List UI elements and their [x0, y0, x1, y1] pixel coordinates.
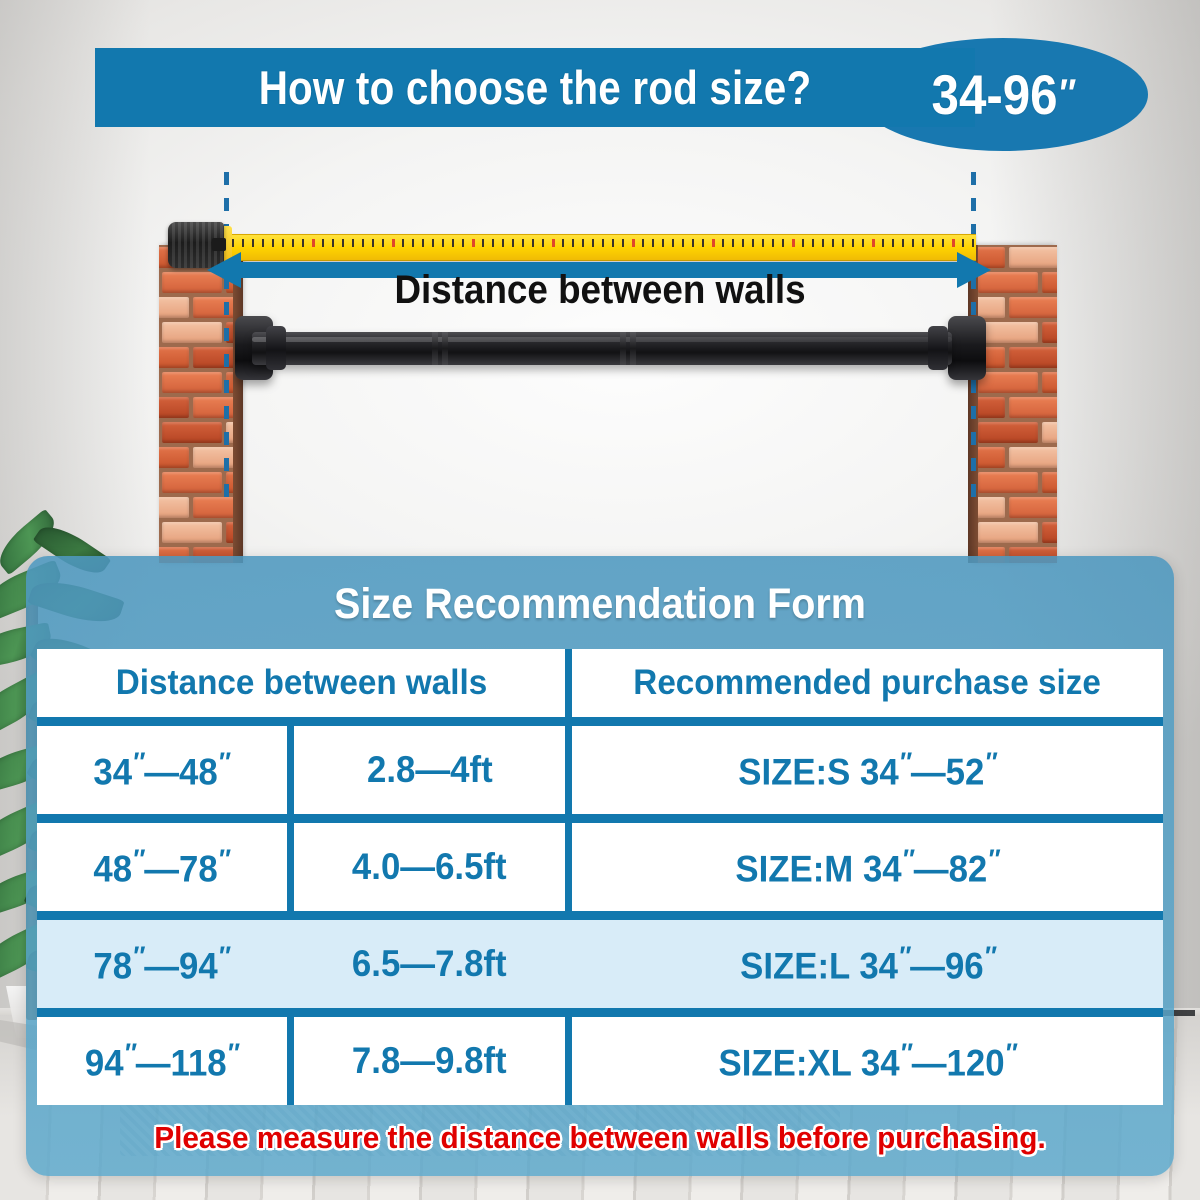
tape-tick	[362, 239, 364, 247]
brick	[978, 422, 1038, 443]
brick	[978, 372, 1038, 393]
table-row: 48″—78″4.0—6.5ftSIZE:M 34″—82″	[37, 823, 1163, 911]
tape-tick	[272, 239, 274, 247]
column-header-recommendation: Recommended purchase size	[572, 649, 1163, 717]
tape-tick	[392, 239, 395, 247]
tape-tick	[892, 239, 894, 247]
tape-body-rib	[202, 222, 205, 268]
tape-tick	[492, 239, 494, 247]
brick	[1042, 522, 1057, 543]
rod-joint	[620, 332, 626, 365]
brick	[1042, 472, 1057, 493]
tape-tick	[512, 239, 514, 247]
tape-tick	[592, 239, 594, 247]
tape-tick	[542, 239, 544, 247]
tape-tick	[522, 239, 524, 247]
tape-tick	[432, 239, 434, 247]
tape-tick	[322, 239, 324, 247]
guide-line-left	[224, 172, 229, 507]
tape-body-rib	[190, 222, 193, 268]
tape-tick	[882, 239, 884, 247]
brick	[162, 472, 222, 493]
brick	[159, 347, 189, 368]
tape-tick	[682, 239, 684, 247]
rod-joint	[630, 332, 636, 365]
tape-tick	[752, 239, 754, 247]
brick	[975, 497, 1005, 518]
brick	[159, 297, 189, 318]
column-divider	[565, 649, 572, 717]
tape-tick	[302, 239, 304, 247]
brick	[975, 397, 1005, 418]
table-row: 94″—118″7.8—9.8ftSIZE:XL 34″—120″	[37, 1017, 1163, 1105]
rod-end-cap-right	[948, 316, 986, 380]
tape-tick	[412, 239, 414, 247]
tape-tick	[842, 239, 844, 247]
row-separator	[37, 1008, 1163, 1017]
brick-course	[975, 270, 1057, 296]
tape-tick	[452, 239, 454, 247]
tape-tick	[572, 239, 574, 247]
tape-tick	[442, 239, 444, 247]
tape-tick	[852, 239, 854, 247]
cell-recommendation: SIZE:L 34″—96″	[572, 920, 1163, 1008]
tape-tick	[532, 239, 534, 247]
brick	[978, 272, 1038, 293]
table-row: 78″—94″6.5—7.8ftSIZE:L 34″—96″	[37, 920, 1163, 1008]
cell-divider	[287, 823, 294, 911]
brick-course	[975, 295, 1057, 321]
tape-body-rib	[208, 222, 211, 268]
brick	[1042, 272, 1057, 293]
brick-course	[975, 245, 1057, 271]
cell-divider	[287, 1017, 294, 1105]
brick	[978, 522, 1038, 543]
brick-course	[975, 370, 1057, 396]
tape-tick	[782, 239, 784, 247]
brick	[162, 272, 222, 293]
brick-course	[975, 420, 1057, 446]
tape-measure-ribbon	[224, 234, 976, 261]
brick	[1042, 372, 1057, 393]
tape-tick	[762, 239, 764, 247]
tape-tick	[352, 239, 354, 247]
size-form-title: Size Recommendation Form	[72, 572, 1128, 636]
rod-highlight	[252, 337, 952, 342]
brick-course	[975, 320, 1057, 346]
brick-wall-icon-right	[975, 245, 1057, 563]
tape-tick	[742, 239, 744, 247]
tape-body-rib	[178, 222, 181, 268]
cell-distance-inches: 48″—78″	[37, 823, 287, 911]
brick-course	[159, 520, 241, 546]
table-header-row: Distance between wallsRecommended purcha…	[37, 649, 1163, 717]
header-range: 34-96″	[875, 38, 1130, 151]
brick	[1042, 322, 1057, 343]
cell-divider	[287, 920, 294, 1008]
cell-distance-inches: 34″—48″	[37, 726, 287, 814]
tape-tick	[562, 239, 564, 247]
measurement-label: Distance between walls	[269, 268, 931, 313]
tape-tick	[672, 239, 674, 247]
cell-divider	[565, 823, 572, 911]
tape-body-rib	[172, 222, 175, 268]
tape-body-rib	[196, 222, 199, 268]
brick	[975, 447, 1005, 468]
tape-body-rib	[184, 222, 187, 268]
tape-tick	[382, 239, 384, 247]
tape-tick	[612, 239, 614, 247]
tension-rod-icon	[252, 332, 952, 365]
brick	[159, 447, 189, 468]
header-range-unit: ″	[1058, 72, 1075, 117]
tape-tick	[822, 239, 824, 247]
rod-joint	[432, 332, 438, 365]
tape-tick	[402, 239, 404, 247]
tape-measure-hook	[212, 238, 226, 251]
brick	[978, 472, 1038, 493]
brick-wall-edge-left	[233, 245, 243, 563]
table-row: 34″—48″2.8—4ftSIZE:S 34″—52″	[37, 726, 1163, 814]
tape-tick	[772, 239, 774, 247]
brick	[1009, 447, 1057, 468]
tape-tick	[622, 239, 624, 247]
cell-recommendation: SIZE:S 34″—52″	[572, 726, 1163, 814]
tape-tick	[232, 239, 234, 247]
tape-tick	[712, 239, 715, 247]
column-header-distance: Distance between walls	[37, 649, 565, 717]
tape-tick	[472, 239, 475, 247]
tape-tick	[372, 239, 374, 247]
tape-tick	[482, 239, 484, 247]
header-question: How to choose the rod size?	[157, 48, 914, 127]
tape-tick	[642, 239, 644, 247]
cell-distance-feet: 7.8—9.8ft	[294, 1017, 565, 1105]
tape-measure-end-number	[942, 238, 973, 254]
tape-tick	[922, 239, 924, 247]
brick-course	[975, 445, 1057, 471]
cell-divider	[565, 1017, 572, 1105]
tape-tick	[292, 239, 294, 247]
tape-tick	[932, 239, 934, 247]
cell-distance-feet: 4.0—6.5ft	[294, 823, 565, 911]
tape-tick	[652, 239, 654, 247]
cell-distance-inches: 78″—94″	[37, 920, 287, 1008]
brick	[159, 397, 189, 418]
brick	[975, 297, 1005, 318]
tape-tick	[872, 239, 875, 247]
tape-tick	[252, 239, 254, 247]
tape-tick	[242, 239, 244, 247]
cell-distance-inches: 94″—118″	[37, 1017, 287, 1105]
cell-divider	[287, 726, 294, 814]
brick	[1009, 397, 1057, 418]
tape-tick	[792, 239, 795, 247]
brick	[162, 372, 222, 393]
tape-tick	[332, 239, 334, 247]
brick-course	[975, 395, 1057, 421]
brick	[162, 322, 222, 343]
tape-tick	[602, 239, 604, 247]
tape-tick	[422, 239, 424, 247]
tape-tick	[342, 239, 344, 247]
tape-tick	[552, 239, 555, 247]
rod-collar-right	[928, 326, 948, 370]
brick-course	[975, 520, 1057, 546]
brick-course	[975, 345, 1057, 371]
tape-tick	[732, 239, 734, 247]
tape-tick	[662, 239, 664, 247]
row-separator	[37, 814, 1163, 823]
brick	[162, 422, 222, 443]
cell-distance-feet: 2.8—4ft	[294, 726, 565, 814]
tape-tick	[582, 239, 584, 247]
tape-tick	[802, 239, 804, 247]
rod-collar-left	[266, 326, 286, 370]
cell-recommendation: SIZE:XL 34″—120″	[572, 1017, 1163, 1105]
tape-tick	[812, 239, 814, 247]
cell-recommendation: SIZE:M 34″—82″	[572, 823, 1163, 911]
tape-tick	[902, 239, 904, 247]
brick	[1009, 247, 1057, 268]
row-separator	[37, 911, 1163, 920]
tape-tick	[462, 239, 464, 247]
tape-tick	[912, 239, 914, 247]
brick	[162, 522, 222, 543]
brick	[1009, 497, 1057, 518]
tape-tick	[832, 239, 834, 247]
tape-tick	[862, 239, 864, 247]
rod-joint	[442, 332, 448, 365]
cell-distance-feet: 6.5—7.8ft	[294, 920, 565, 1008]
brick	[978, 322, 1038, 343]
tape-tick	[262, 239, 264, 247]
tape-tick	[632, 239, 635, 247]
brick	[159, 497, 189, 518]
tape-tick	[502, 239, 504, 247]
brick-course	[975, 495, 1057, 521]
brick	[1042, 422, 1057, 443]
row-separator	[37, 717, 1163, 726]
cell-divider	[565, 920, 572, 1008]
cell-divider	[565, 726, 572, 814]
brick-course	[975, 470, 1057, 496]
brick	[1009, 297, 1057, 318]
tape-tick	[692, 239, 694, 247]
size-recommendation-table: Distance between wallsRecommended purcha…	[37, 649, 1163, 1105]
tape-tick	[702, 239, 704, 247]
brick	[1009, 347, 1057, 368]
tape-tick	[312, 239, 315, 247]
tape-tick	[722, 239, 724, 247]
header-range-number: 34-96	[932, 62, 1058, 127]
tape-tick	[282, 239, 284, 247]
infographic-canvas: How to choose the rod size? 34-96″ Dista…	[0, 0, 1200, 1200]
purchase-warning: Please measure the distance between wall…	[49, 1112, 1151, 1164]
